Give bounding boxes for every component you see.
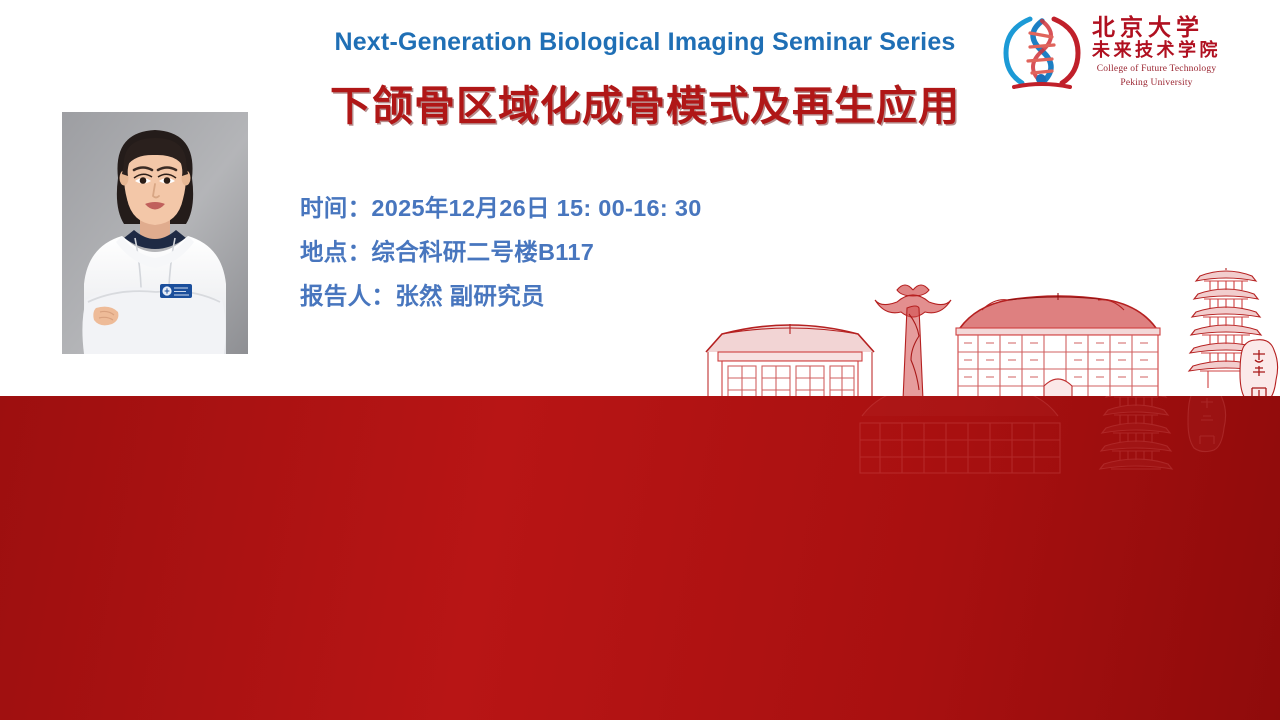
- page-title: 下颌骨区域化成骨模式及再生应用: [300, 72, 990, 132]
- event-location: 地点：综合科研二号楼B117: [300, 230, 980, 274]
- logo-english-line2: Peking University: [1092, 78, 1221, 90]
- event-speaker: 报告人：张然 副研究员: [300, 274, 980, 318]
- dna-helix-logo-icon: [1000, 11, 1084, 95]
- page-subtitle-english: Next-Generation Biological Imaging Semin…: [300, 28, 990, 57]
- logo-university-name: 北京大学: [1092, 16, 1221, 41]
- logo-college-name: 未来技术学院: [1092, 41, 1221, 62]
- event-info-block: 时间：2025年12月26日 15: 00-16: 30 地点：综合科研二号楼B…: [300, 186, 980, 318]
- speaker-portrait: [62, 112, 248, 354]
- institution-logo: 北京大学 未来技术学院 College of Future Technology…: [1000, 10, 1272, 96]
- content-panel: 摘要： 下颌骨是颅面区唯一可运动骨骼，在言语、咀嚼、吞咽等功能中居核心地位，其发…: [0, 396, 1280, 720]
- logo-english-line1: College of Future Technology: [1092, 64, 1221, 76]
- panel-architecture-watermark: [720, 396, 1280, 588]
- event-time: 时间：2025年12月26日 15: 00-16: 30: [300, 186, 980, 230]
- seminar-poster: Next-Generation Biological Imaging Semin…: [0, 0, 1280, 720]
